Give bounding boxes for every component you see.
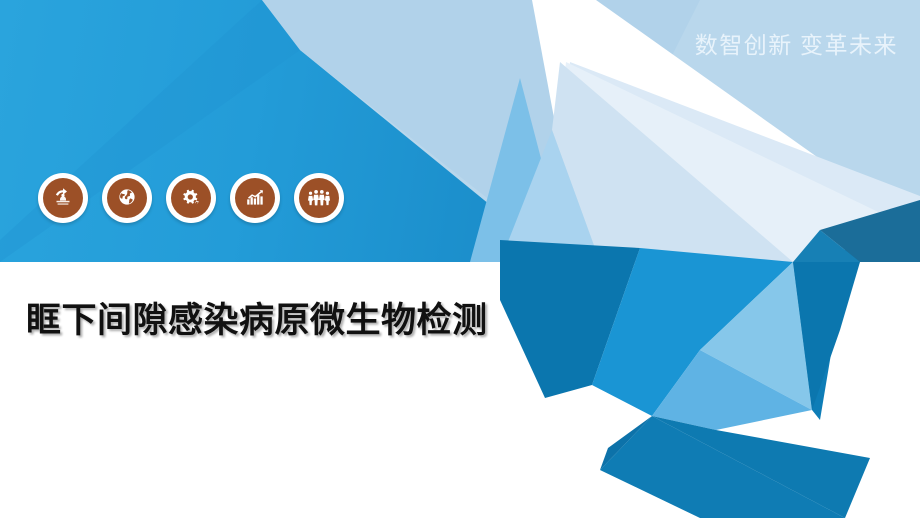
globe-icon bbox=[107, 178, 147, 218]
gears-icon bbox=[171, 178, 211, 218]
icon-badge-1 bbox=[38, 173, 88, 223]
icon-badge-4 bbox=[230, 173, 280, 223]
tagline: 数智创新 变革未来 bbox=[695, 26, 898, 60]
page-title: 眶下间隙感染病原微生物检测 bbox=[26, 296, 526, 346]
people-team-icon bbox=[299, 178, 339, 218]
slide-canvas: 数智创新 变革未来 bbox=[0, 0, 920, 518]
icon-badge-5 bbox=[294, 173, 344, 223]
icon-badge-2 bbox=[102, 173, 152, 223]
bar-chart-growth-icon bbox=[235, 178, 275, 218]
low-poly-artwork bbox=[0, 0, 920, 518]
icon-row bbox=[38, 173, 344, 223]
refresh-cycle-icon bbox=[43, 178, 83, 218]
icon-badge-3 bbox=[166, 173, 216, 223]
